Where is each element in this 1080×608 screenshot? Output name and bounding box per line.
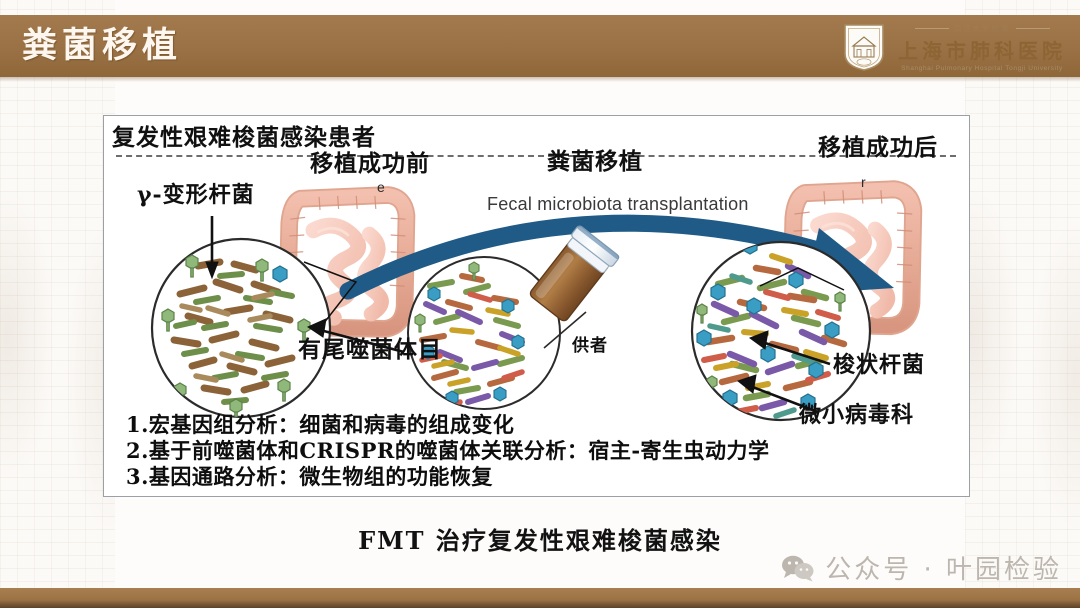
label-fmt-english: Fecal microbiota transplantation (487, 194, 749, 215)
bullet-item-1: 1.宏基因组分析：细菌和病毒的组成变化 (126, 412, 946, 438)
background-texture-right (965, 0, 1080, 608)
logo-affiliation: 同济大学附属 (915, 23, 1050, 34)
bullet-item-2: 2.基于前噬菌体和CRISPR的噬菌体关联分析：宿主-寄生虫动力学 (126, 438, 946, 464)
slide-root: 粪菌移植 同济大学附属 上海市肺科医院 Shanghai Pulmonary H… (0, 0, 1080, 608)
wechat-icon (781, 554, 815, 582)
hospital-logo-text: 同济大学附属 上海市肺科医院 Shanghai Pulmonary Hospit… (898, 23, 1066, 72)
label-fusobacterium: 梭状杆菌 (833, 347, 925, 379)
label-donor: 供者 (572, 331, 608, 356)
label-fmt-chinese: 粪菌移植 (547, 142, 643, 176)
bullet-item-3: 3.基因通路分析：微生物组的功能恢复 (126, 464, 946, 490)
header-banner-shadow (0, 77, 1080, 82)
background-texture-left (0, 0, 115, 608)
logo-english-name: Shanghai Pulmonary Hospital Tongji Unive… (901, 65, 1063, 72)
logo-hospital-name: 上海市肺科医院 (898, 35, 1066, 64)
label-after-transplant: 移植成功后 (818, 128, 938, 162)
analysis-bullet-list: 1.宏基因组分析：细菌和病毒的组成变化 2.基于前噬菌体和CRISPR的噬菌体关… (126, 412, 946, 490)
label-small-r: r (861, 174, 866, 190)
label-small-e: e (377, 179, 385, 195)
label-caudovirales: 有尾噬菌体目 (298, 330, 442, 364)
watermark-text: 公众号 · 叶园检验 (825, 549, 1062, 586)
label-gamma-proteobacteria: γ-变形杆菌 (137, 177, 255, 209)
bottom-bar (0, 588, 1080, 608)
page-title: 粪菌移植 (22, 22, 182, 70)
label-before-transplant: 移植成功前 (310, 144, 430, 178)
watermark: 公众号 · 叶园检验 (781, 549, 1062, 586)
hospital-crest-icon (842, 22, 886, 72)
figure-panel: 复发性艰难梭菌感染患者 移植成功前 粪菌移植 移植成功后 γ-变形杆菌 有尾噬菌… (103, 115, 970, 497)
hospital-logo: 同济大学附属 上海市肺科医院 Shanghai Pulmonary Hospit… (842, 20, 1066, 74)
